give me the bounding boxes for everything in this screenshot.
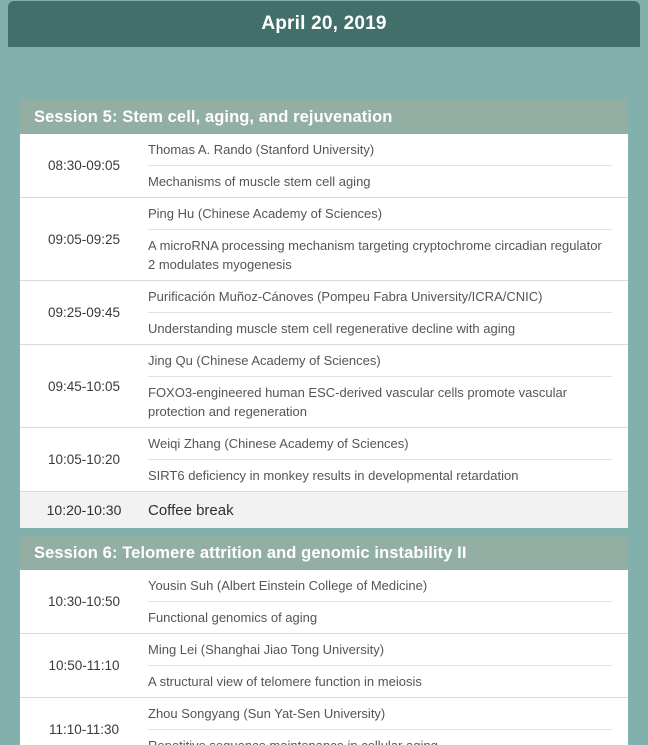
break-time: 10:20-10:30 [20, 492, 148, 528]
row-content: Jing Qu (Chinese Academy of Sciences)FOX… [148, 345, 628, 427]
row-content: Ping Hu (Chinese Academy of Sciences)A m… [148, 198, 628, 280]
row-content: Purificación Muñoz-Cánoves (Pompeu Fabra… [148, 281, 628, 344]
talk-title: SIRT6 deficiency in monkey results in de… [148, 460, 612, 491]
page-title: April 20, 2019 [261, 13, 386, 35]
talk-title: Functional genomics of aging [148, 602, 612, 633]
schedule-scroll-column: Session 5: Stem cell, aging, and rejuven… [20, 47, 628, 745]
row-time: 09:05-09:25 [20, 198, 148, 280]
session-gap [20, 528, 628, 536]
table-row: 09:05-09:25Ping Hu (Chinese Academy of S… [20, 198, 628, 281]
schedule-page: April 20, 2019 Session 5: Stem cell, agi… [0, 0, 648, 745]
table-row: 10:50-11:10Ming Lei (Shanghai Jiao Tong … [20, 634, 628, 698]
row-time: 10:30-10:50 [20, 570, 148, 633]
top-spacer [20, 47, 628, 100]
talk-title: Mechanisms of muscle stem cell aging [148, 166, 612, 197]
table-row: 09:45-10:05Jing Qu (Chinese Academy of S… [20, 345, 628, 428]
row-content: Thomas A. Rando (Stanford University)Mec… [148, 134, 628, 197]
session-title: Session 5: Stem cell, aging, and rejuven… [34, 108, 392, 127]
table-row: 09:25-09:45Purificación Muñoz-Cánoves (P… [20, 281, 628, 345]
speaker-affiliation: Thomas A. Rando (Stanford University) [148, 134, 612, 166]
row-time: 10:05-10:20 [20, 428, 148, 491]
row-content: Yousin Suh (Albert Einstein College of M… [148, 570, 628, 633]
row-content: Zhou Songyang (Sun Yat-Sen University)Re… [148, 698, 628, 745]
session-table: 08:30-09:05Thomas A. Rando (Stanford Uni… [20, 134, 628, 528]
session-header: Session 5: Stem cell, aging, and rejuven… [20, 100, 628, 134]
session-title: Session 6: Telomere attrition and genomi… [34, 544, 467, 563]
speaker-affiliation: Ping Hu (Chinese Academy of Sciences) [148, 198, 612, 230]
break-label: Coffee break [148, 492, 612, 528]
row-time: 09:25-09:45 [20, 281, 148, 344]
talk-title: A microRNA processing mechanism targetin… [148, 230, 612, 280]
speaker-affiliation: Yousin Suh (Albert Einstein College of M… [148, 570, 612, 602]
row-content: Ming Lei (Shanghai Jiao Tong University)… [148, 634, 628, 697]
table-row: 10:05-10:20Weiqi Zhang (Chinese Academy … [20, 428, 628, 492]
table-row: 08:30-09:05Thomas A. Rando (Stanford Uni… [20, 134, 628, 198]
row-time: 09:45-10:05 [20, 345, 148, 427]
date-header-bar: April 20, 2019 [8, 1, 640, 47]
sessions-container: Session 5: Stem cell, aging, and rejuven… [20, 100, 628, 745]
row-time: 08:30-09:05 [20, 134, 148, 197]
row-time: 10:50-11:10 [20, 634, 148, 697]
session-table: 10:30-10:50Yousin Suh (Albert Einstein C… [20, 570, 628, 745]
talk-title: Understanding muscle stem cell regenerat… [148, 313, 612, 344]
row-time: 11:10-11:30 [20, 698, 148, 745]
speaker-affiliation: Ming Lei (Shanghai Jiao Tong University) [148, 634, 612, 666]
talk-title: Repetitive sequence maintenance in cellu… [148, 730, 612, 745]
table-row: 10:30-10:50Yousin Suh (Albert Einstein C… [20, 570, 628, 634]
session-header: Session 6: Telomere attrition and genomi… [20, 536, 628, 570]
speaker-affiliation: Zhou Songyang (Sun Yat-Sen University) [148, 698, 612, 730]
break-row: 10:20-10:30Coffee break [20, 492, 628, 528]
row-content: Weiqi Zhang (Chinese Academy of Sciences… [148, 428, 628, 491]
talk-title: FOXO3-engineered human ESC-derived vascu… [148, 377, 612, 427]
table-row: 11:10-11:30Zhou Songyang (Sun Yat-Sen Un… [20, 698, 628, 745]
speaker-affiliation: Jing Qu (Chinese Academy of Sciences) [148, 345, 612, 377]
break-content: Coffee break [148, 492, 628, 528]
talk-title: A structural view of telomere function i… [148, 666, 612, 697]
speaker-affiliation: Weiqi Zhang (Chinese Academy of Sciences… [148, 428, 612, 460]
speaker-affiliation: Purificación Muñoz-Cánoves (Pompeu Fabra… [148, 281, 612, 313]
